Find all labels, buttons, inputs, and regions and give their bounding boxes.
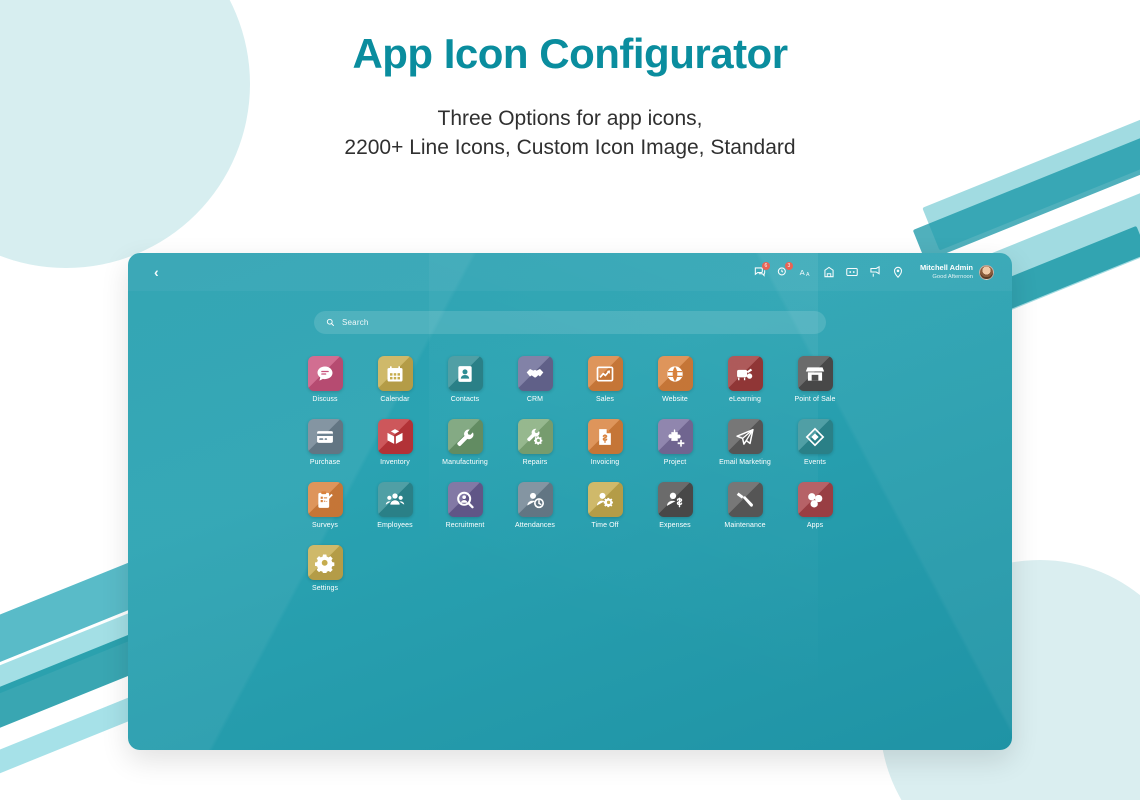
- back-icon[interactable]: ‹: [154, 265, 159, 279]
- app-tile-recruitment[interactable]: Recruitment: [433, 482, 497, 529]
- app-label: Inventory: [380, 459, 410, 466]
- puzzle-plus-icon[interactable]: [658, 419, 693, 454]
- activities-badge: 3: [785, 262, 793, 270]
- calendar-icon[interactable]: [378, 356, 413, 391]
- app-label: Purchase: [310, 459, 340, 466]
- app-tile-maintenance[interactable]: Maintenance: [713, 482, 777, 529]
- apps-grid-icon[interactable]: [845, 265, 859, 279]
- app-tile-contacts[interactable]: Contacts: [433, 356, 497, 403]
- app-tile-events[interactable]: Events: [783, 419, 847, 466]
- app-label: Time Off: [591, 522, 618, 529]
- hammer-icon[interactable]: [728, 482, 763, 517]
- subtitle-line-2: 2200+ Line Icons, Custom Icon Image, Sta…: [0, 133, 1140, 162]
- enterprise-icon[interactable]: [822, 265, 836, 279]
- app-tile-project[interactable]: Project: [643, 419, 707, 466]
- user-name: Mitchell Admin: [920, 263, 973, 273]
- app-label: CRM: [527, 396, 543, 403]
- app-label: Repairs: [523, 459, 548, 466]
- app-tile-email-marketing[interactable]: Email Marketing: [713, 419, 777, 466]
- user-greeting: Good Afternoon: [920, 273, 973, 281]
- chart-up-icon[interactable]: [588, 356, 623, 391]
- wrench-icon[interactable]: [448, 419, 483, 454]
- app-label: Manufacturing: [442, 459, 488, 466]
- app-label: Email Marketing: [719, 459, 771, 466]
- app-label: Attendances: [515, 522, 555, 529]
- search-icon: [326, 318, 335, 327]
- app-tile-sales[interactable]: Sales: [573, 356, 637, 403]
- app-label: Discuss: [312, 396, 337, 403]
- messages-icon[interactable]: 6: [753, 265, 767, 279]
- app-tile-website[interactable]: Website: [643, 356, 707, 403]
- gear-icon[interactable]: [308, 545, 343, 580]
- app-tile-apps[interactable]: Apps: [783, 482, 847, 529]
- app-tile-manufacturing[interactable]: Manufacturing: [433, 419, 497, 466]
- app-label: Invoicing: [591, 459, 620, 466]
- clipboard-pen-icon[interactable]: [308, 482, 343, 517]
- app-label: Employees: [377, 522, 413, 529]
- app-tile-point-of-sale[interactable]: Point of Sale: [783, 356, 847, 403]
- paper-plane-icon[interactable]: [728, 419, 763, 454]
- app-label: Settings: [312, 585, 338, 592]
- app-tile-purchase[interactable]: Purchase: [293, 419, 357, 466]
- person-clock-icon[interactable]: [518, 482, 553, 517]
- app-tile-settings[interactable]: Settings: [293, 545, 357, 592]
- credit-card-icon[interactable]: [308, 419, 343, 454]
- app-tile-time-off[interactable]: Time Off: [573, 482, 637, 529]
- app-tile-discuss[interactable]: Discuss: [293, 356, 357, 403]
- handshake-icon[interactable]: [518, 356, 553, 391]
- globe-icon[interactable]: [658, 356, 693, 391]
- app-label: Maintenance: [724, 522, 765, 529]
- app-label: Surveys: [312, 522, 338, 529]
- app-tile-surveys[interactable]: Surveys: [293, 482, 357, 529]
- search-input[interactable]: Search: [314, 311, 826, 334]
- app-tile-inventory[interactable]: Inventory: [363, 419, 427, 466]
- user-text: Mitchell Admin Good Afternoon: [920, 263, 973, 281]
- magnifier-person-icon[interactable]: [448, 482, 483, 517]
- people-group-icon[interactable]: [378, 482, 413, 517]
- page-subtitle: Three Options for app icons, 2200+ Line …: [0, 104, 1140, 162]
- person-gear-icon[interactable]: [588, 482, 623, 517]
- activities-icon[interactable]: 3: [776, 265, 790, 279]
- chat-bubble-icon[interactable]: [308, 356, 343, 391]
- wrench-gear-icon[interactable]: [518, 419, 553, 454]
- ticket-icon[interactable]: [798, 419, 833, 454]
- app-tile-invoicing[interactable]: Invoicing: [573, 419, 637, 466]
- app-tile-attendances[interactable]: Attendances: [503, 482, 567, 529]
- app-label: Apps: [807, 522, 823, 529]
- app-label: Recruitment: [446, 522, 485, 529]
- search-placeholder: Search: [342, 318, 369, 327]
- avatar[interactable]: [979, 265, 994, 280]
- app-window: ‹ 6 3 AA: [128, 253, 1012, 750]
- page-title: App Icon Configurator: [0, 30, 1140, 78]
- projector-icon[interactable]: [728, 356, 763, 391]
- app-tile-crm[interactable]: CRM: [503, 356, 567, 403]
- app-label: Events: [804, 459, 826, 466]
- app-label: Sales: [596, 396, 614, 403]
- app-label: Point of Sale: [795, 396, 836, 403]
- megaphone-icon[interactable]: [868, 265, 882, 279]
- app-tile-employees[interactable]: Employees: [363, 482, 427, 529]
- app-tile-expenses[interactable]: Expenses: [643, 482, 707, 529]
- app-label: Expenses: [659, 522, 691, 529]
- translate-icon[interactable]: AA: [799, 265, 813, 279]
- app-grid: DiscussCalendarContactsCRMSalesWebsiteeL…: [290, 356, 850, 592]
- contact-card-icon[interactable]: [448, 356, 483, 391]
- search-area: Search: [128, 311, 1012, 334]
- app-label: Project: [664, 459, 687, 466]
- box-open-icon[interactable]: [378, 419, 413, 454]
- messages-badge: 6: [762, 262, 770, 270]
- subtitle-line-1: Three Options for app icons,: [0, 104, 1140, 133]
- app-label: Calendar: [380, 396, 409, 403]
- app-tile-elearning[interactable]: eLearning: [713, 356, 777, 403]
- app-label: eLearning: [729, 396, 761, 403]
- location-pin-icon[interactable]: [891, 265, 905, 279]
- invoice-dollar-icon[interactable]: [588, 419, 623, 454]
- storefront-icon[interactable]: [798, 356, 833, 391]
- app-label: Contacts: [451, 396, 479, 403]
- app-tile-repairs[interactable]: Repairs: [503, 419, 567, 466]
- app-tile-calendar[interactable]: Calendar: [363, 356, 427, 403]
- app-label: Website: [662, 396, 688, 403]
- svg-text:A: A: [806, 272, 810, 278]
- person-dollar-icon[interactable]: [658, 482, 693, 517]
- window-navbar: ‹ 6 3 AA: [128, 253, 1012, 291]
- blocks-icon[interactable]: [798, 482, 833, 517]
- user-menu[interactable]: Mitchell Admin Good Afternoon: [920, 263, 994, 281]
- poster-page: App Icon Configurator Three Options for …: [0, 0, 1140, 800]
- svg-text:A: A: [800, 268, 806, 277]
- systray: 6 3 AA: [753, 263, 994, 281]
